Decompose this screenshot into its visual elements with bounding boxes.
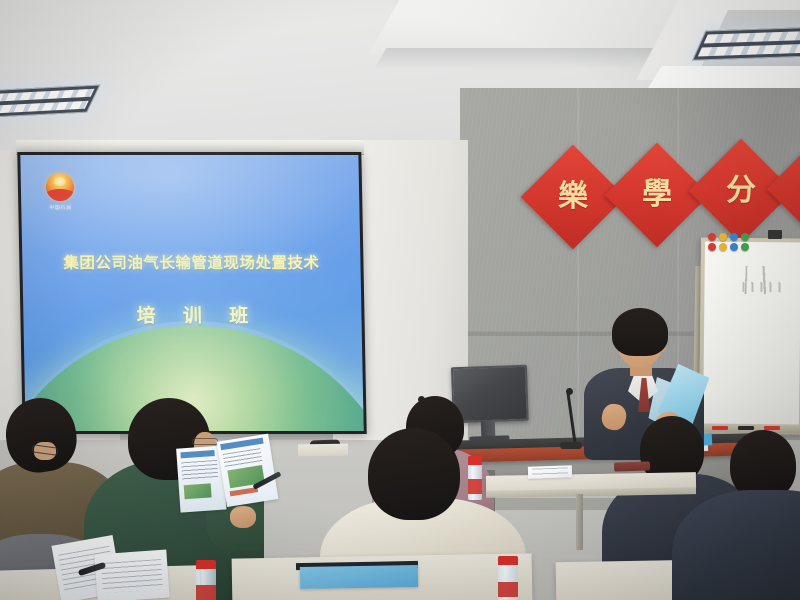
notebook-red [614,461,650,471]
whiteboard-marker [712,426,728,430]
attendee-hand [230,506,256,528]
whiteboard-clip [768,230,782,239]
whiteboard-magnet [719,243,727,251]
presenter-hair [612,308,668,356]
presentation-slide: 中国石油 集团公司油气长输管道现场处置技术 培 训 班 [20,155,363,431]
ceiling-light-icon [0,85,100,120]
whiteboard-magnet [708,233,716,241]
whiteboard-magnet [741,243,749,251]
placard-char: 分 [704,154,778,228]
whiteboard-handwriting [742,282,786,292]
slide-subtitle: 培 训 班 [23,301,362,328]
placard-char: 享 [782,152,800,226]
whiteboard-magnet [719,233,727,241]
attendee-clothing [672,490,800,600]
whiteboard-magnet [708,243,716,251]
petrochina-sunburst-logo: 中国石油 [43,173,78,211]
blue-folder [300,565,418,589]
attendee-head [368,428,460,520]
whiteboard-surface [703,242,800,431]
placard-char: 學 [620,158,694,232]
sunburst-icon [46,173,75,201]
whiteboard [699,237,800,434]
booklet-right-page [217,434,279,507]
whiteboard-marker [764,426,780,430]
attendee-dark-suit-foreground [672,470,800,600]
whiteboard-magnet [730,233,738,241]
water-bottle [498,556,518,600]
logo-caption: 中国石油 [43,204,77,211]
whiteboard-marker [738,426,754,430]
training-booklet [174,434,278,515]
attendee-papers [94,550,169,600]
slide-title: 集团公司油气长输管道现场处置技术 [22,251,360,273]
seminar-room-photo: 樂 學 分 享 中国石油 集团公司油气长输管道现场处置技术 培 训 班 [0,0,800,600]
whiteboard-magnet [741,233,749,241]
water-bottle [196,560,216,600]
placard-char: 樂 [536,160,610,234]
projection-screen: 中国石油 集团公司油气长输管道现场处置技术 培 训 班 [17,152,366,434]
table-leg [576,494,583,550]
ceiling-light-icon [692,25,800,60]
whiteboard-magnet [730,243,738,251]
attendee-papers [528,465,572,479]
